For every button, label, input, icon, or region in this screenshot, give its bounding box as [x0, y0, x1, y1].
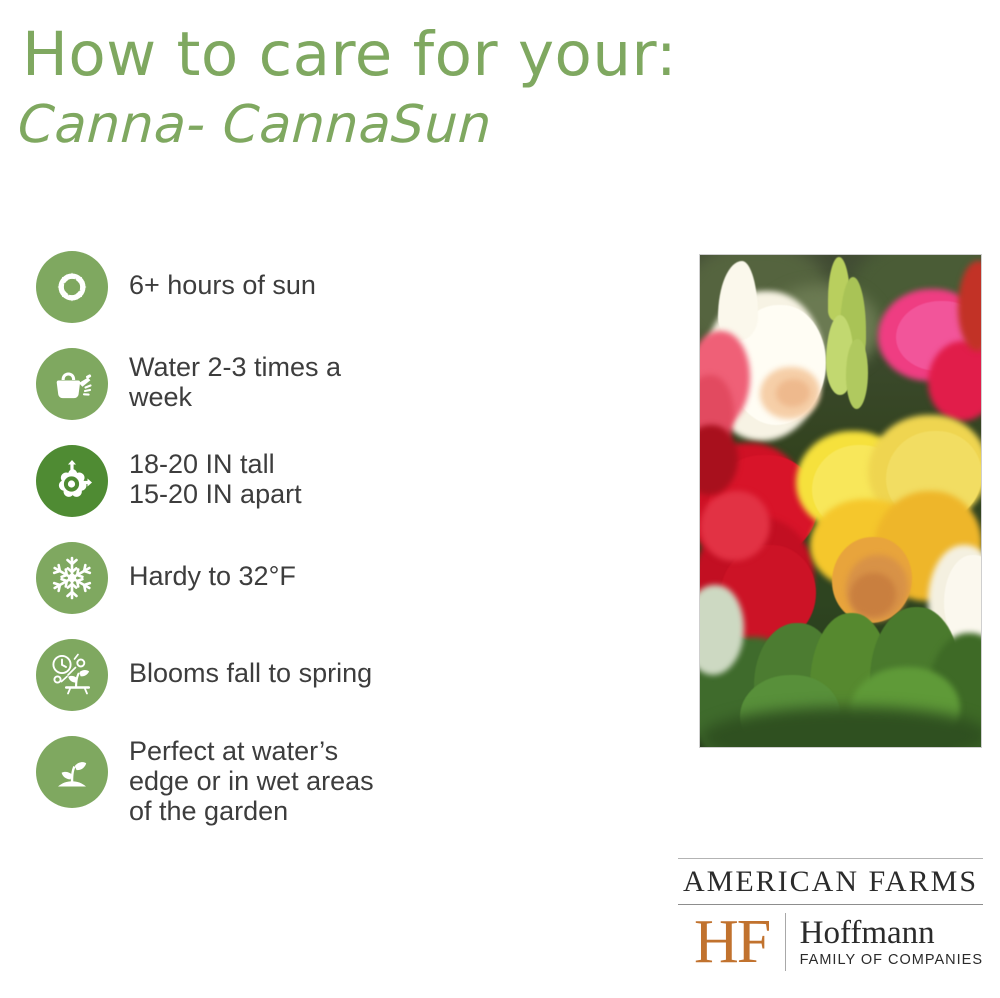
title-line-primary: How to care for your: — [22, 16, 922, 94]
title-line-variety: Canna- CannaSun — [16, 92, 923, 158]
care-instruction-list: 6+ hours of sun — [36, 251, 656, 826]
bloom-clock-icon — [36, 639, 108, 711]
plant-photo-image — [700, 255, 981, 747]
care-item-bloom-season-text: Blooms fall to spring — [129, 639, 372, 688]
care-item-placement: Perfect at water’s edge or in wet areas … — [36, 736, 656, 826]
care-item-hardiness-text: Hardy to 32°F — [129, 542, 296, 591]
logo-american-farms: AMERICAN FARMS — [678, 859, 983, 904]
care-item-bloom-season: Blooms fall to spring — [36, 639, 656, 711]
care-item-spacing: 18-20 IN tall 15-20 IN apart — [36, 445, 656, 517]
care-item-hardiness: Hardy to 32°F — [36, 542, 656, 614]
brand-logo: AMERICAN FARMS HF Hoffmann FAMILY OF COM… — [678, 858, 983, 973]
care-item-placement-text: Perfect at water’s edge or in wet areas … — [129, 736, 374, 826]
plant-photo — [699, 254, 982, 748]
care-item-spacing-text: 18-20 IN tall 15-20 IN apart — [129, 445, 302, 509]
snowflake-icon — [36, 542, 108, 614]
logo-hoffmann-name: Hoffmann — [800, 915, 983, 951]
care-item-water-text: Water 2-3 times a week — [129, 348, 341, 412]
care-item-water: Water 2-3 times a week — [36, 348, 656, 420]
watering-can-icon — [36, 348, 108, 420]
sun-icon — [36, 251, 108, 323]
plant-spacing-icon — [36, 445, 108, 517]
infographic-page: How to care for your: Canna- CannaSun — [0, 0, 1000, 998]
logo-hoffmann-text: Hoffmann FAMILY OF COMPANIES — [800, 915, 983, 969]
page-title: How to care for your: Canna- CannaSun — [22, 16, 922, 158]
care-item-sun-text: 6+ hours of sun — [129, 251, 316, 300]
logo-hoffmann-tagline: FAMILY OF COMPANIES — [800, 951, 983, 969]
care-item-sun: 6+ hours of sun — [36, 251, 656, 323]
seedling-icon — [36, 736, 108, 808]
hf-monogram-icon: HF — [678, 911, 781, 973]
logo-hoffmann-lockup: HF Hoffmann FAMILY OF COMPANIES — [678, 905, 983, 973]
